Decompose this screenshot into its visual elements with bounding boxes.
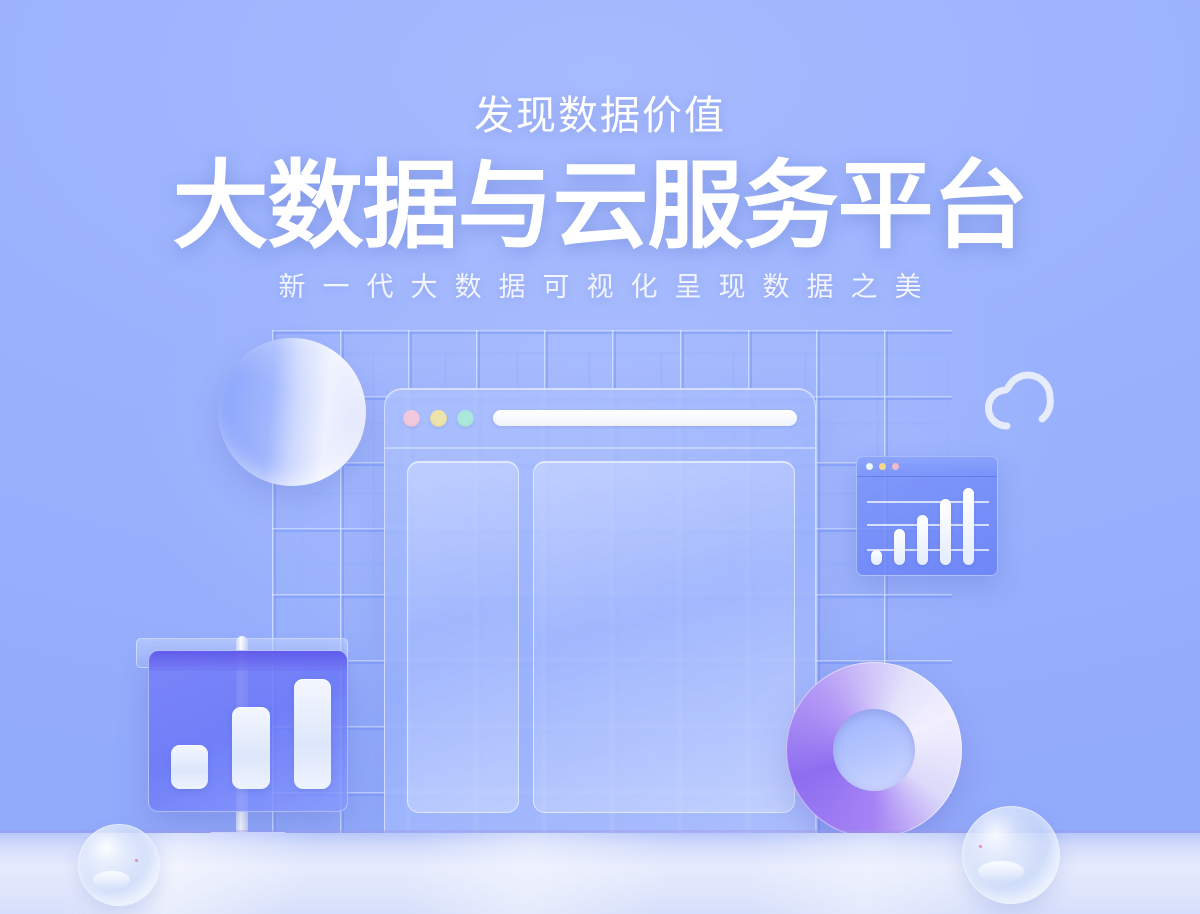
cloud-icon xyxy=(972,358,1068,436)
sphere-highlight xyxy=(93,871,130,889)
mini-maximize-dot-icon[interactable] xyxy=(892,463,899,470)
hero-banner: 发现数据价值 大数据与云服务平台 新一代大数据可视化呈现数据之美 xyxy=(0,0,1200,914)
minimize-dot-icon[interactable] xyxy=(430,410,447,427)
monitor-chart-bars xyxy=(171,669,331,789)
sphere-specular xyxy=(979,845,982,848)
mini-close-dot-icon[interactable] xyxy=(866,463,873,470)
content-pane[interactable] xyxy=(533,461,795,813)
glass-sphere-right xyxy=(962,806,1060,904)
mini-chart-window[interactable] xyxy=(856,456,998,576)
sphere-specular xyxy=(135,859,138,862)
donut-ring-rim xyxy=(786,662,962,838)
bar xyxy=(963,488,974,565)
bar xyxy=(894,529,905,565)
main-browser-window[interactable] xyxy=(384,388,816,834)
bar xyxy=(294,679,331,789)
title-bar-divider xyxy=(385,447,815,449)
mini-minimize-dot-icon[interactable] xyxy=(879,463,886,470)
monitor-header xyxy=(149,651,347,671)
glass-disc xyxy=(218,338,366,486)
glass-sphere-left xyxy=(78,824,160,906)
browser-title-bar xyxy=(385,389,815,447)
bar xyxy=(917,515,928,565)
monitor-bar-chart xyxy=(148,650,348,812)
close-dot-icon[interactable] xyxy=(403,410,420,427)
hero-text-block: 发现数据价值 大数据与云服务平台 新一代大数据可视化呈现数据之美 xyxy=(0,0,1200,301)
hero-subtitle: 新一代大数据可视化呈现数据之美 xyxy=(0,274,1200,301)
bar xyxy=(940,499,951,565)
maximize-dot-icon[interactable] xyxy=(457,410,474,427)
hero-eyebrow: 发现数据价值 xyxy=(0,96,1200,136)
mini-chart-title-bar xyxy=(857,457,997,477)
url-input[interactable] xyxy=(493,410,797,426)
sphere-highlight xyxy=(978,861,1024,882)
bar xyxy=(871,550,882,565)
page-title: 大数据与云服务平台 xyxy=(0,158,1200,256)
sidebar-pane[interactable] xyxy=(407,461,519,813)
bar xyxy=(171,745,208,789)
mini-chart-plot xyxy=(857,477,997,577)
bar xyxy=(232,707,269,789)
mini-chart-bars xyxy=(871,485,989,565)
